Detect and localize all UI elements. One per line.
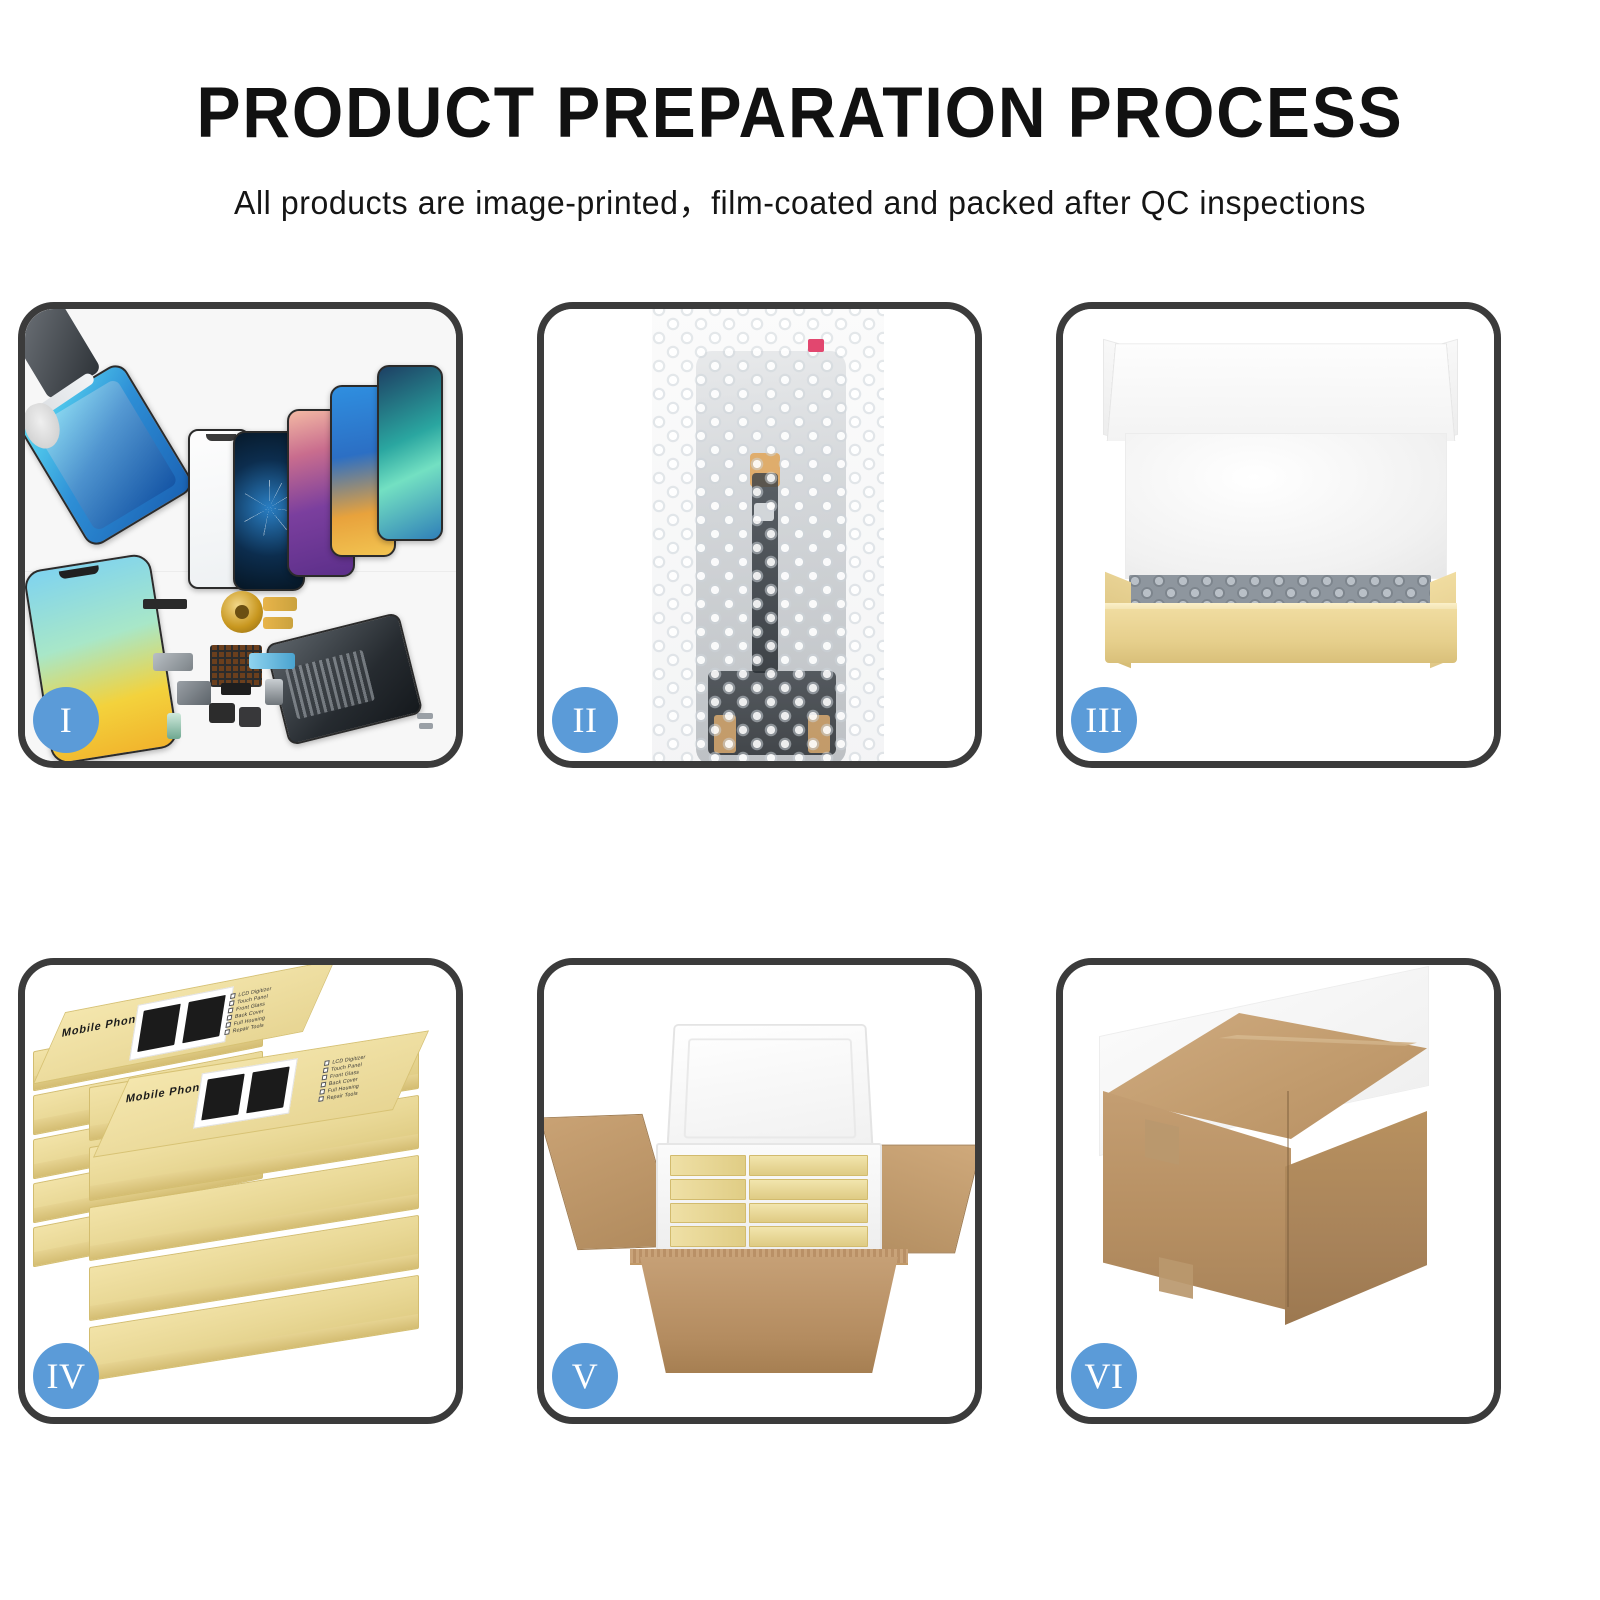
mini-phone-photo-a1 [135, 1001, 183, 1054]
page-title: PRODUCT PREPARATION PROCESS [56, 78, 1544, 149]
checkbox-icon [318, 1096, 324, 1102]
retail-box-inner [749, 1179, 868, 1200]
wireless-charge-coil [221, 591, 263, 633]
earpiece-speaker [143, 599, 187, 609]
step-badge-5: V [552, 1343, 618, 1409]
small-component-2 [209, 703, 235, 723]
process-step-card-2[interactable]: II [537, 302, 982, 768]
foam-box-lid [666, 1024, 874, 1155]
flex-cable-1 [263, 597, 297, 611]
carton-edge-seam [1287, 1091, 1289, 1307]
box-front-panel [1105, 609, 1457, 663]
retail-box-column-left [670, 1155, 746, 1247]
retail-box-column-right [749, 1155, 868, 1247]
checkbox-icon [324, 1060, 330, 1066]
mini-phone-photo-b1 [199, 1071, 247, 1123]
sim-tray [167, 713, 181, 739]
process-step-card-4[interactable]: Mobile Phone Spare Parts LCD Digitizer T… [18, 958, 463, 1424]
checkbox-icon [224, 1029, 230, 1035]
screw-1 [417, 713, 433, 719]
tape-tab-upper [1145, 1119, 1179, 1165]
step-badge-6: VI [1071, 1343, 1137, 1409]
phone-housing-open [264, 612, 423, 746]
retail-box-inner [749, 1203, 868, 1224]
checkbox-icon [229, 1000, 235, 1006]
camera-module [177, 681, 211, 705]
pink-label-tab [808, 339, 824, 352]
screw-2 [419, 723, 433, 729]
stacked-retail-boxes-image: Mobile Phone Spare Parts LCD Digitizer T… [25, 965, 456, 1417]
white-foam-sheet [1125, 433, 1447, 579]
step-badge-3: III [1071, 687, 1137, 753]
checkbox-icon [225, 1022, 231, 1028]
process-step-card-1[interactable]: I [18, 302, 463, 768]
checkbox-icon [230, 993, 236, 999]
bubble-wrapped-screen-image [544, 309, 975, 761]
vibration-motor [265, 679, 283, 705]
box-lid-back [1107, 343, 1456, 441]
page-header: PRODUCT PREPARATION PROCESS All products… [0, 0, 1600, 224]
retail-box-inner [670, 1155, 746, 1176]
retail-box-inner [670, 1179, 746, 1200]
mini-phone-photo-a2 [180, 992, 228, 1045]
step-badge-1: I [33, 687, 99, 753]
flex-cable-3 [249, 653, 295, 669]
process-step-card-3[interactable]: III [1056, 302, 1501, 768]
box-stack: Mobile Phone Spare Parts LCD Digitizer T… [25, 965, 456, 1417]
retail-boxes-inside [670, 1155, 868, 1247]
checkbox-icon [228, 1007, 234, 1013]
flex-cable-4 [153, 653, 193, 671]
phone-display-green [377, 365, 443, 541]
checkbox-icon [323, 1067, 329, 1073]
small-component-3 [239, 707, 261, 727]
mini-phone-photo-b2 [244, 1064, 292, 1116]
checkbox-icon [227, 1015, 233, 1021]
checkbox-icon [320, 1082, 326, 1088]
retail-box-checklist-b: LCD Digitizer Touch Panel Front Glass Ba… [317, 1038, 410, 1111]
retail-box-inner [749, 1155, 868, 1176]
bubble-texture [652, 309, 884, 761]
spare-parts-collage-image [25, 309, 456, 761]
carton-right-face [1285, 1111, 1427, 1325]
retail-box-inner [670, 1226, 746, 1247]
retail-box-inner [749, 1226, 868, 1247]
tape-tab-lower [1159, 1257, 1193, 1299]
retail-box-photo-group-b [193, 1058, 298, 1129]
process-step-card-5[interactable]: V [537, 958, 982, 1424]
retail-box-checklist-a: LCD Digitizer Touch Panel Front Glass Ba… [223, 968, 316, 1044]
retail-box-inner [670, 1203, 746, 1224]
process-step-card-6[interactable]: VI [1056, 958, 1501, 1424]
carton-body [640, 1257, 898, 1373]
page-subtitle: All products are image-printed，film-coat… [24, 176, 1576, 224]
flex-cable-2 [263, 617, 293, 629]
step-badge-4: IV [33, 1343, 99, 1409]
open-retail-box-image [1063, 309, 1494, 761]
bubble-wrap-bag [652, 309, 884, 761]
process-step-grid: I II [18, 302, 1582, 1424]
carton-with-foam-cooler-image [544, 965, 975, 1417]
checkbox-icon [319, 1089, 325, 1095]
checkbox-icon [322, 1074, 328, 1080]
step-badge-2: II [552, 687, 618, 753]
small-component-1 [221, 683, 251, 695]
sealed-shipping-carton-image [1063, 965, 1494, 1417]
